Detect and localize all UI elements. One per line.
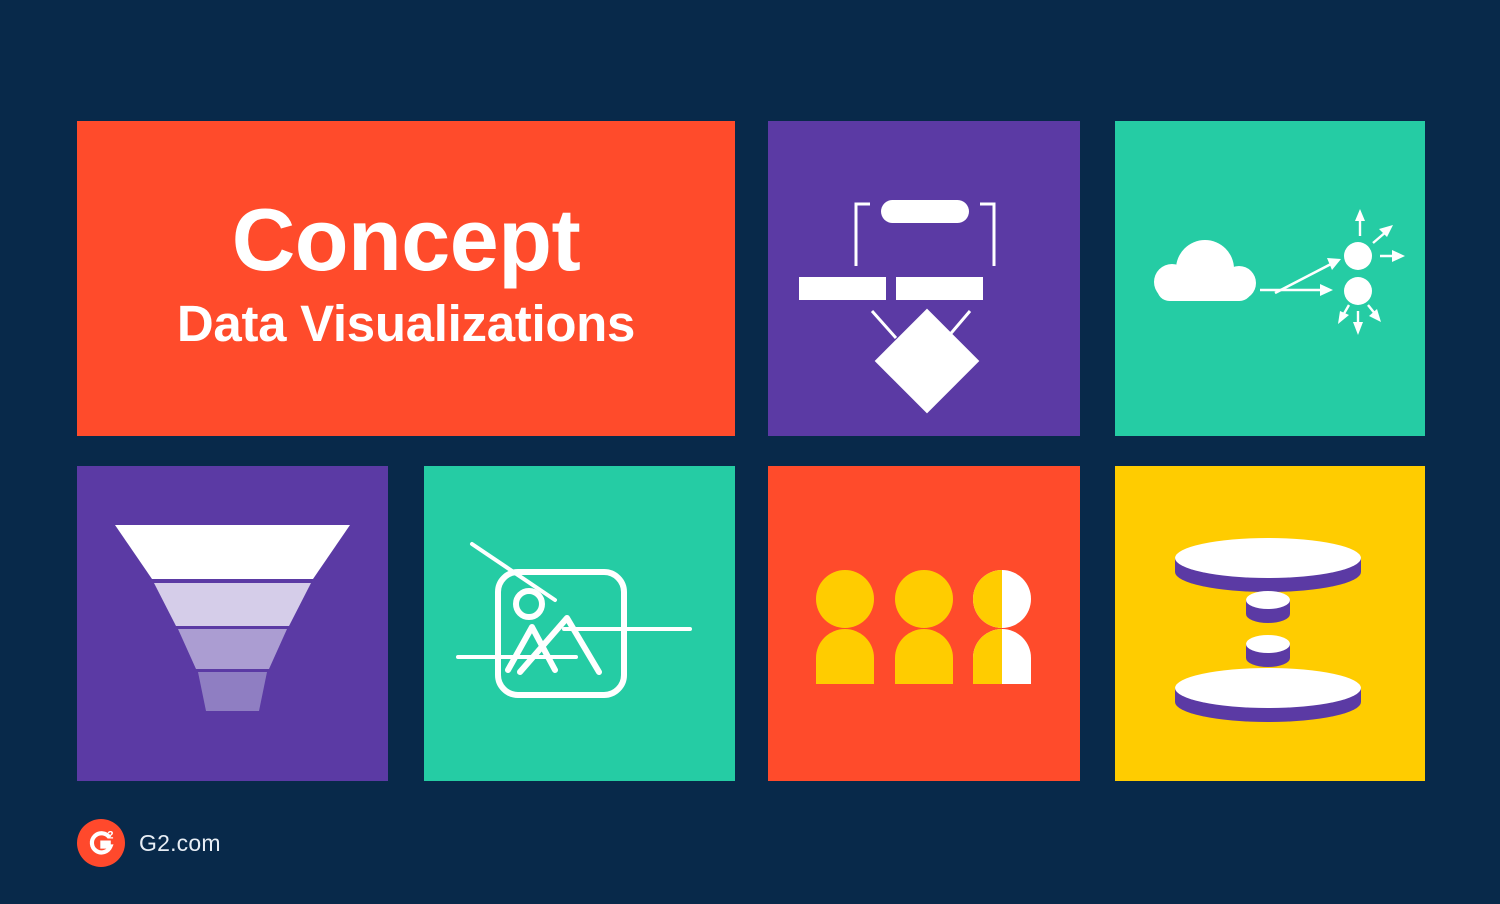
title-card: Concept Data Visualizations xyxy=(77,121,735,436)
funnel-segment-1 xyxy=(115,525,350,579)
cloud-network-icon xyxy=(1115,121,1425,436)
funnel-segment-2 xyxy=(154,583,311,626)
sun-circle-icon xyxy=(516,591,542,617)
funnel-chart-icon xyxy=(77,466,388,781)
g2-logo-icon[interactable]: 2 xyxy=(77,819,125,867)
cylinder-bottom-large xyxy=(1175,668,1361,722)
people-group-icon xyxy=(768,466,1080,781)
flowchart-icon xyxy=(768,121,1080,436)
person-2-head xyxy=(895,570,953,628)
picture-tile xyxy=(424,466,735,781)
flowchart-connector-right xyxy=(980,204,994,266)
flowchart-start-node xyxy=(881,200,969,223)
cloud-icon xyxy=(1154,240,1256,301)
title-card-tile: Concept Data Visualizations xyxy=(77,121,735,436)
node-lower-arrows xyxy=(1338,305,1381,335)
image-chart-icon xyxy=(424,466,735,781)
person-1-body xyxy=(816,629,874,684)
flowchart-node-right xyxy=(896,277,983,300)
network-node-upper xyxy=(1344,242,1372,270)
flowchart-decision-node xyxy=(875,309,980,414)
person-1-head xyxy=(816,570,874,628)
stacked-cylinders-icon xyxy=(1115,466,1425,781)
page-title: Concept xyxy=(232,197,581,283)
cylinders-tile xyxy=(1115,466,1425,781)
person-3 xyxy=(973,570,1031,684)
arrow-cloud-to-node-lower xyxy=(1260,284,1333,296)
cylinder-middle-lower xyxy=(1246,635,1290,667)
cylinder-top-large xyxy=(1175,538,1361,592)
network-node-lower xyxy=(1344,277,1372,305)
person-2-body xyxy=(895,629,953,684)
arrow-cloud-to-node-upper xyxy=(1275,258,1341,293)
funnel-tile xyxy=(77,466,388,781)
g2-logo-glyph: 2 xyxy=(84,826,118,860)
people-tile xyxy=(768,466,1080,781)
page-subtitle: Data Visualizations xyxy=(177,296,635,352)
mountain-small xyxy=(508,627,555,670)
flowchart-tile xyxy=(768,121,1080,436)
poster-canvas: Concept Data Visualizations xyxy=(0,0,1500,904)
funnel-segment-3 xyxy=(178,629,287,669)
svg-text:2: 2 xyxy=(107,829,113,841)
flowchart-connector-left xyxy=(856,204,870,266)
footer-branding: 2 G2.com xyxy=(77,819,221,867)
image-frame xyxy=(498,572,624,695)
cylinder-middle-upper xyxy=(1246,591,1290,623)
brand-name: G2.com xyxy=(139,830,221,857)
flowchart-diagonal-left xyxy=(872,311,896,338)
funnel-segment-4 xyxy=(198,672,267,711)
flowchart-node-left xyxy=(799,277,886,300)
network-tile xyxy=(1115,121,1425,436)
